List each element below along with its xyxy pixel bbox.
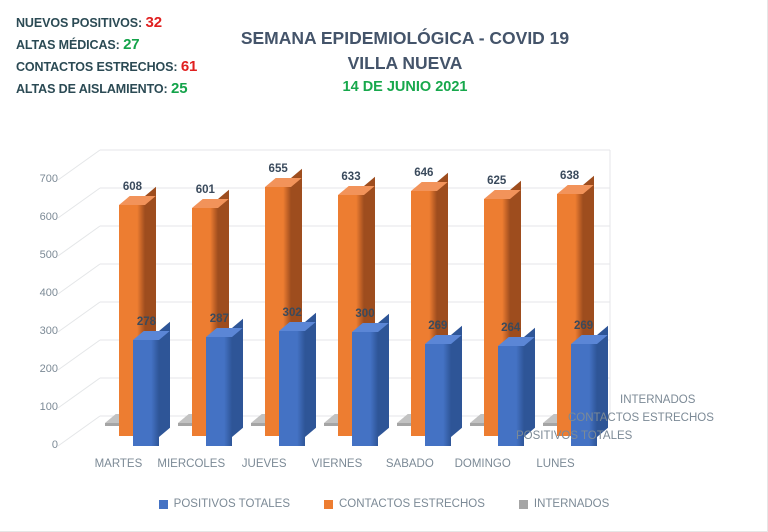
stat-value: 61 [181, 58, 198, 75]
legend-item[interactable]: INTERNADOS [519, 498, 609, 510]
bar-value-label: 633 [329, 171, 373, 183]
legend-label: CONTACTOS ESTRECHOS [339, 498, 485, 510]
bar-positivos-totales [425, 335, 451, 446]
bar-value-label: 300 [343, 308, 387, 320]
bar-positivos-totales [133, 331, 159, 446]
bars-layer: 9608278860128796553028633300964626976252… [0, 130, 768, 532]
bar-value-label: 608 [110, 181, 154, 193]
bar-value-label: 264 [489, 322, 533, 334]
stat-label: ALTAS DE AISLAMIENTO: [16, 82, 168, 96]
bar-value-label: 287 [197, 313, 241, 325]
bar-positivos-totales [206, 328, 232, 446]
legend-label: POSITIVOS TOTALES [174, 498, 290, 510]
bar-side [232, 319, 243, 437]
depth-axis-label: POSITIVOS TOTALES [516, 430, 632, 442]
bar-face [352, 332, 378, 446]
bar-value-label: 269 [562, 320, 606, 332]
stat-label: ALTAS MÉDICAS: [16, 38, 120, 52]
legend-swatch-icon [519, 500, 528, 509]
chart-page: NUEVOS POSITIVOS: 32 ALTAS MÉDICAS: 27 C… [0, 0, 768, 532]
legend-swatch-icon [324, 500, 333, 509]
legend-label: INTERNADOS [534, 498, 609, 510]
bar-face [206, 337, 232, 446]
stat-label: NUEVOS POSITIVOS: [16, 16, 142, 30]
x-axis-label: LUNES [506, 458, 606, 470]
depth-axis-label: CONTACTOS ESTRECHOS [568, 412, 714, 424]
bar-side [305, 313, 316, 437]
bar-side [378, 314, 389, 437]
bar-face [133, 340, 159, 446]
chart-title-line2: VILLA NUEVA [210, 51, 600, 76]
chart-area: 0100200300400500600700 96082788601287965… [0, 130, 768, 532]
bar-value-label: 269 [416, 320, 460, 332]
bar-value-label: 655 [256, 163, 300, 175]
bar-value-label: 646 [402, 167, 446, 179]
bar-positivos-totales [279, 322, 305, 446]
chart-legend: POSITIVOS TOTALESCONTACTOS ESTRECHOSINTE… [0, 498, 768, 510]
legend-item[interactable]: POSITIVOS TOTALES [159, 498, 290, 510]
stat-value: 27 [123, 36, 140, 53]
chart-title-line1: SEMANA EPIDEMIOLÓGICA - COVID 19 [210, 26, 600, 51]
stat-value: 25 [171, 80, 188, 97]
depth-axis-label: INTERNADOS [620, 394, 695, 406]
bar-face [425, 344, 451, 446]
bar-positivos-totales [352, 323, 378, 446]
bar-value-label: 601 [183, 184, 227, 196]
chart-title-block: SEMANA EPIDEMIOLÓGICA - COVID 19 VILLA N… [210, 26, 600, 99]
bar-value-label: 302 [270, 307, 314, 319]
chart-date: 14 DE JUNIO 2021 [210, 76, 600, 99]
stat-value: 32 [145, 14, 162, 31]
bar-value-label: 625 [475, 175, 519, 187]
bar-value-label: 278 [124, 316, 168, 328]
legend-item[interactable]: CONTACTOS ESTRECHOS [324, 498, 485, 510]
bar-face [279, 331, 305, 446]
legend-swatch-icon [159, 500, 168, 509]
bar-value-label: 638 [548, 170, 592, 182]
bar-side [159, 322, 170, 437]
stat-label: CONTACTOS ESTRECHOS: [16, 60, 177, 74]
